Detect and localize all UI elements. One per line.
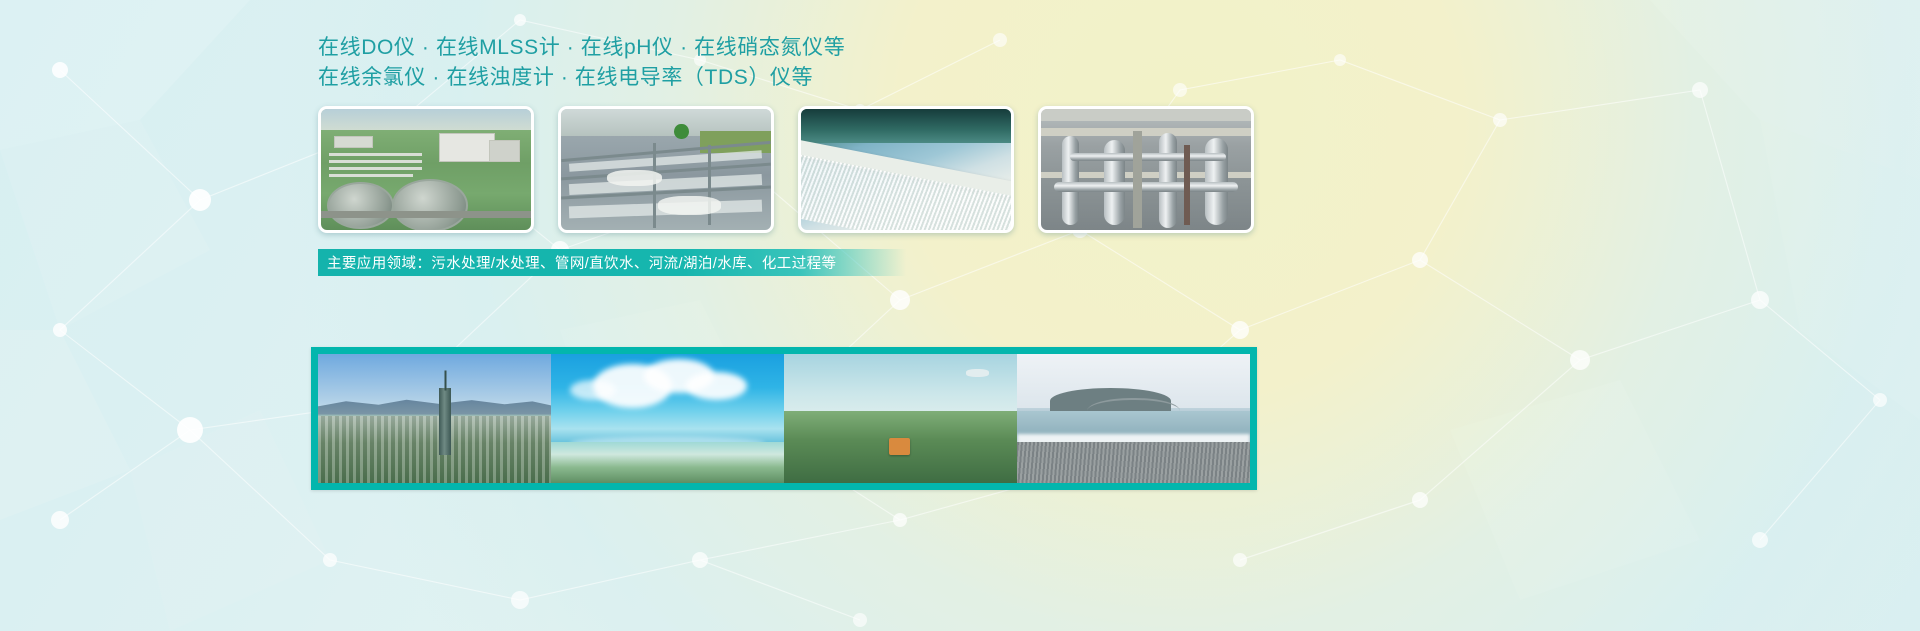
headline-block: 在线DO仪 · 在线MLSS计 · 在线pH仪 · 在线硝态氮仪等 在线余氯仪 … [318, 33, 1078, 93]
gallery-image-rocky-beach-bridge[interactable] [1017, 354, 1250, 483]
photo-card-aeration-basin-channels[interactable] [558, 106, 774, 233]
banner-root: 在线DO仪 · 在线MLSS计 · 在线pH仪 · 在线硝态氮仪等 在线余氯仪 … [0, 0, 1920, 631]
gallery-strip [311, 347, 1257, 490]
aeration-basin-channels-image [561, 109, 771, 230]
photo-card-row [318, 106, 1254, 233]
background-network-lines [0, 0, 1920, 631]
reservoir-weir-spillway-image [801, 109, 1011, 230]
industrial-process-piping-image [1041, 109, 1251, 230]
background-polygons [0, 0, 1920, 631]
headline-line-1: 在线DO仪 · 在线MLSS计 · 在线pH仪 · 在线硝态氮仪等 [318, 33, 1078, 63]
gallery-image-city-skyline-taipei[interactable] [318, 354, 551, 483]
application-fields-text: 主要应用领域：污水处理/水处理、管网/直饮水、河流/湖泊/水库、化工过程等 [318, 252, 836, 273]
headline-line-2: 在线余氯仪 · 在线浊度计 · 在线电导率（TDS）仪等 [318, 63, 1078, 93]
aerial-wastewater-treatment-plant-image [321, 109, 531, 230]
gallery-image-coastal-aerial-blue-sea[interactable] [551, 354, 784, 483]
gallery-image-island-lagoon-green[interactable] [784, 354, 1017, 483]
application-fields-bar: 主要应用领域：污水处理/水处理、管网/直饮水、河流/湖泊/水库、化工过程等 [318, 249, 906, 276]
photo-card-industrial-process-piping[interactable] [1038, 106, 1254, 233]
photo-card-reservoir-weir-spillway[interactable] [798, 106, 1014, 233]
photo-card-aerial-wastewater-treatment-plant[interactable] [318, 106, 534, 233]
